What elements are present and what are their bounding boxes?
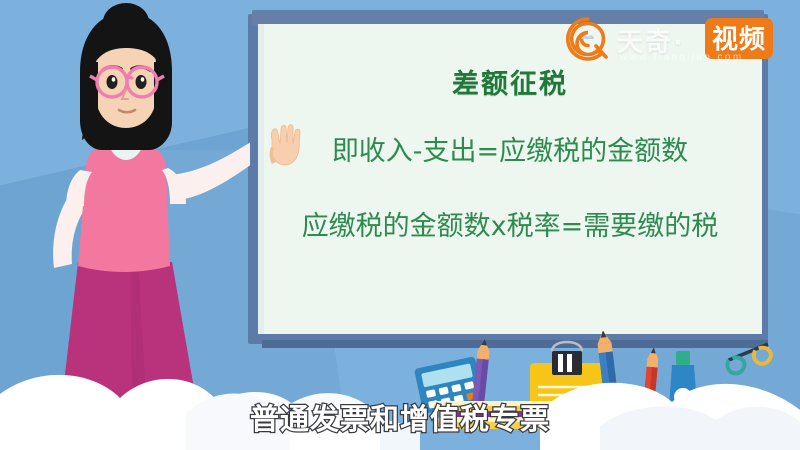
tianqi-logo-icon (565, 16, 611, 62)
board-formula-line-2: 应缴税的金额数x税率=需要缴的税 (258, 204, 762, 243)
video-frame: 差额征税 即收入-支出=应缴税的金额数 应缴税的金额数x税率=需要缴的税 天奇·… (0, 0, 800, 450)
board-formula-line-1: 即收入-支出=应缴税的金额数 (258, 129, 762, 168)
subtitle-caption: 普通发票和增值税专票 (0, 396, 800, 438)
watermark: 天奇· 视频 www.tianqijun.com (565, 8, 797, 68)
watermark-url: www.tianqijun.com (620, 52, 744, 63)
pointing-hand-icon (262, 118, 308, 170)
